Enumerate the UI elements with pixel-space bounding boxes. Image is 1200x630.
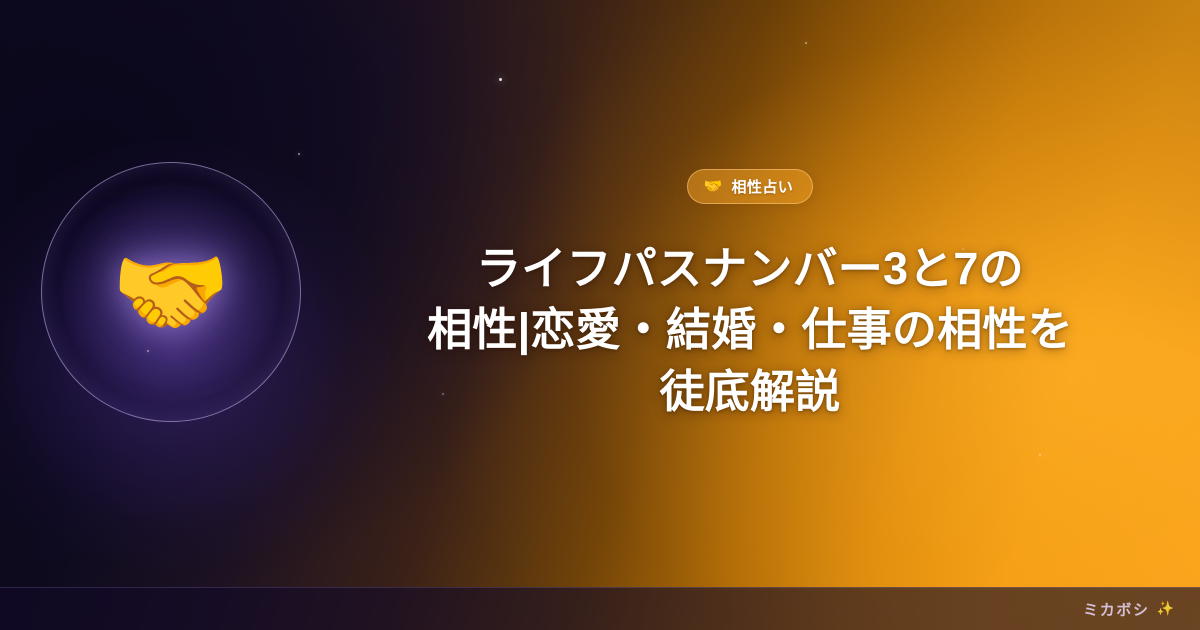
site-watermark: ミカボシ ✨: [1083, 599, 1174, 620]
category-badge[interactable]: 🤝 相性占い: [687, 169, 813, 204]
star-particle: [298, 153, 300, 155]
emblem: 🤝: [41, 162, 301, 422]
site-watermark-label: ミカボシ: [1083, 599, 1149, 620]
handshake-emoji-icon: 🤝: [41, 162, 301, 422]
og-card: 🤝 🤝 相性占い ライフパスナンバー3と7の 相性|恋愛・結婚・仕事の相性を 徒…: [0, 0, 1200, 630]
content-column: 🤝 相性占い ライフパスナンバー3と7の 相性|恋愛・結婚・仕事の相性を 徒底解…: [360, 0, 1140, 585]
page-title-line-3: 徒底解説: [427, 361, 1073, 423]
category-badge-label: 相性占い: [732, 176, 794, 197]
handshake-icon: 🤝: [704, 179, 723, 194]
footer-bar: ミカボシ ✨: [0, 587, 1200, 630]
page-title: ライフパスナンバー3と7の 相性|恋愛・結婚・仕事の相性を 徒底解説: [427, 238, 1073, 423]
sparkles-icon: ✨: [1157, 602, 1174, 616]
page-title-line-2: 相性|恋愛・結婚・仕事の相性を: [427, 299, 1073, 361]
page-title-line-1: ライフパスナンバー3と7の: [427, 238, 1073, 300]
